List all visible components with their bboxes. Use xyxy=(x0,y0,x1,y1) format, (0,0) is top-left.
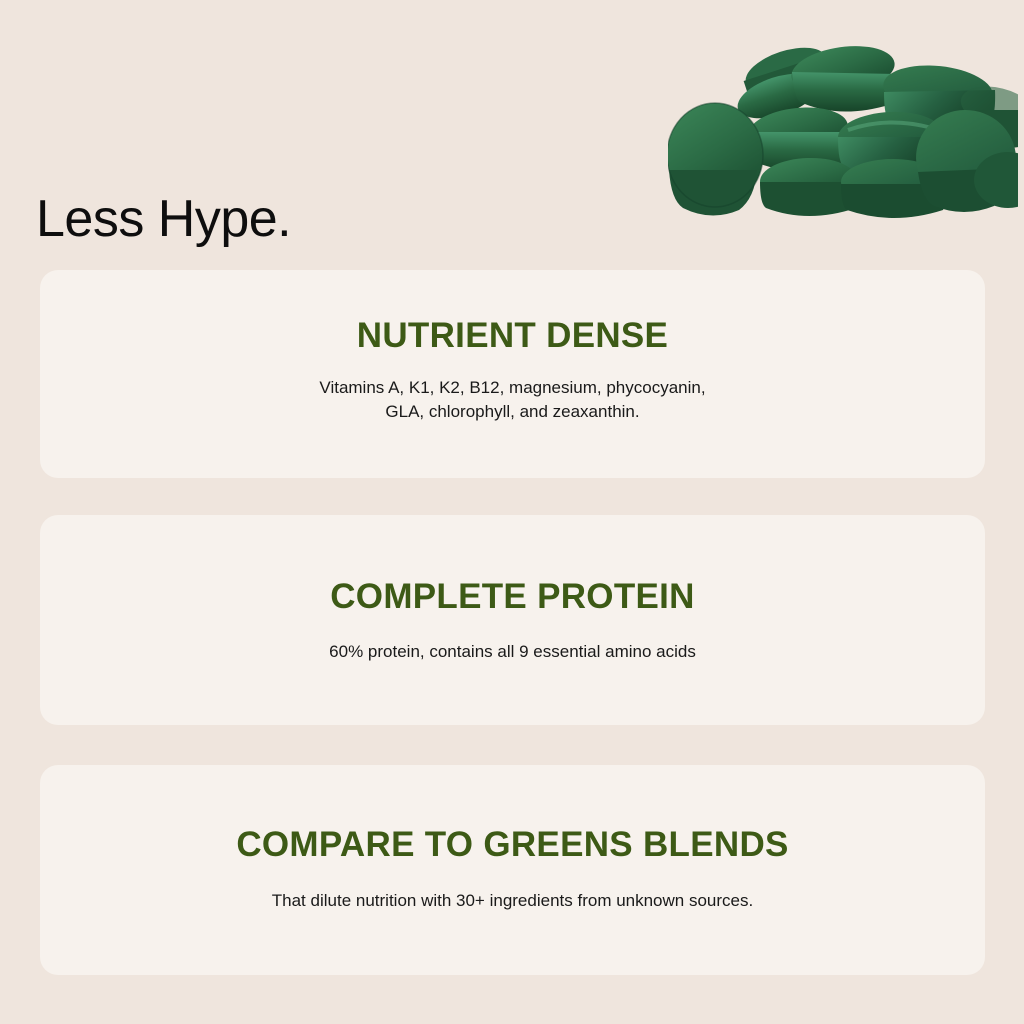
feature-card-nutrient-dense: NUTRIENT DENSE Vitamins A, K1, K2, B12, … xyxy=(40,270,985,478)
tablet-front-left-face xyxy=(668,103,763,216)
feature-card-compare-to-greens-blends: COMPARE TO GREENS BLENDS That dilute nut… xyxy=(40,765,985,975)
feature-card-complete-protein: COMPLETE PROTEIN 60% protein, contains a… xyxy=(40,515,985,725)
headline-line-1: Less Hype. xyxy=(36,190,416,248)
spirulina-tablets-image xyxy=(668,30,1018,225)
card-title: COMPLETE PROTEIN xyxy=(40,515,985,616)
card-body: That dilute nutrition with 30+ ingredien… xyxy=(40,864,985,913)
card-body: Vitamins A, K1, K2, B12, magnesium, phyc… xyxy=(40,355,985,424)
hero-section: Less Hype. More Superfood. xyxy=(0,0,1024,262)
card-title: NUTRIENT DENSE xyxy=(40,270,985,355)
card-title: COMPARE TO GREENS BLENDS xyxy=(40,765,985,864)
card-body: 60% protein, contains all 9 essential am… xyxy=(40,616,985,664)
